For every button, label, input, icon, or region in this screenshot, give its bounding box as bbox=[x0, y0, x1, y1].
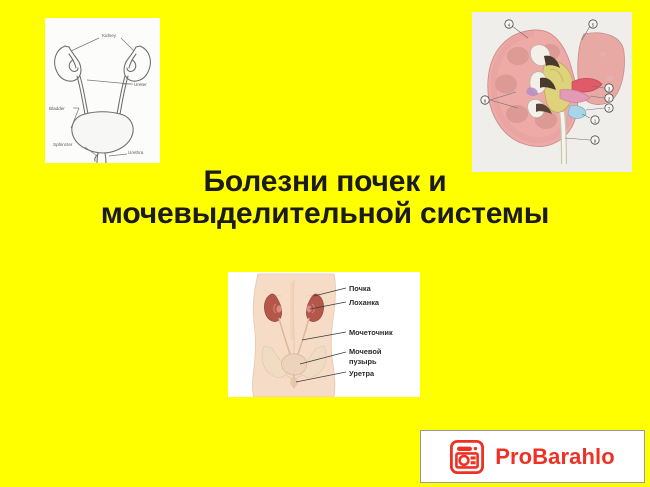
callout-1: 1 bbox=[594, 118, 597, 123]
slide-title: Болезни почек и мочевыделительной систем… bbox=[0, 166, 650, 231]
label-uretra: Уретра bbox=[349, 369, 375, 378]
urinary-tract-illustration: Kidney Ureter Bladder Sphincter Urethra bbox=[45, 18, 160, 163]
torso-urinary-figure: Почка Лоханка Мочеточник Мочевой пузырь … bbox=[228, 272, 420, 397]
label-mochevoy: Мочевой bbox=[349, 347, 382, 356]
callout-2: 2 bbox=[608, 96, 611, 101]
camera-icon bbox=[450, 440, 484, 474]
callout-9: 9 bbox=[594, 138, 597, 143]
callout-4: 4 bbox=[508, 22, 511, 27]
probarahlo-watermark[interactable]: ProBarahlo bbox=[420, 430, 645, 483]
kidney-cross-section-figure: 4 5 3 2 7 1 9 8 bbox=[472, 12, 632, 172]
urinary-tract-figure: Kidney Ureter Bladder Sphincter Urethra bbox=[45, 18, 160, 163]
label-puzyr: пузырь bbox=[349, 357, 377, 366]
torso-urinary-illustration: Почка Лоханка Мочеточник Мочевой пузырь … bbox=[228, 272, 420, 397]
label-sphincter: Sphincter bbox=[53, 142, 73, 147]
kidney-cross-section-illustration: 4 5 3 2 7 1 9 8 bbox=[472, 12, 632, 172]
label-bladder: Bladder bbox=[49, 106, 65, 111]
callout-8: 8 bbox=[484, 98, 487, 103]
label-urethra: Urethra bbox=[128, 150, 144, 155]
label-ureter: Ureter bbox=[134, 82, 147, 87]
slide-title-line-1: Болезни почек и bbox=[0, 166, 650, 198]
callout-7: 7 bbox=[608, 106, 611, 111]
label-kidney: Kidney bbox=[102, 33, 117, 38]
callout-5: 5 bbox=[592, 22, 595, 27]
callout-3: 3 bbox=[608, 86, 611, 91]
presentation-slide: Kidney Ureter Bladder Sphincter Urethra bbox=[0, 0, 650, 487]
slide-title-line-2: мочевыделительной системы bbox=[0, 198, 650, 230]
watermark-label: ProBarahlo bbox=[495, 444, 615, 470]
label-mochetochnik: Мочеточник bbox=[349, 328, 393, 337]
label-lohanka: Лоханка bbox=[349, 298, 380, 307]
label-pochka: Почка bbox=[349, 284, 372, 293]
